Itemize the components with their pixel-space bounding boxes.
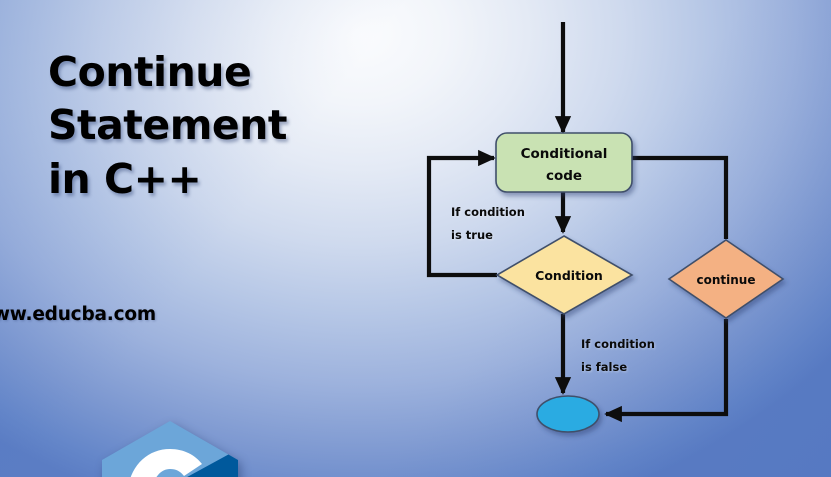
- edge-label-false: If condition is false: [581, 337, 655, 374]
- continue-label: continue: [697, 273, 756, 287]
- edge-label-false-line2: is false: [581, 360, 627, 374]
- terminator-shape: [537, 396, 599, 432]
- edge-label-true: If condition is true: [451, 205, 525, 242]
- node-conditional-code[interactable]: Conditional code: [496, 133, 632, 192]
- site-url: www.educba.com: [0, 304, 807, 325]
- condition-label: Condition: [535, 268, 603, 283]
- edge-code-to-continue: [632, 158, 726, 239]
- flowchart: Conditional code Condition continue If c…: [0, 0, 831, 477]
- node-condition[interactable]: Condition: [497, 236, 632, 314]
- edge-label-false-line1: If condition: [581, 337, 655, 351]
- edge-label-true-line2: is true: [451, 228, 493, 242]
- conditional-code-label-line2: code: [546, 168, 582, 184]
- edge-label-true-line1: If condition: [451, 205, 525, 219]
- conditional-code-label-line1: Conditional: [521, 146, 608, 162]
- slide-canvas: Continue Statement in C++: [0, 0, 831, 477]
- node-terminator[interactable]: [537, 396, 599, 432]
